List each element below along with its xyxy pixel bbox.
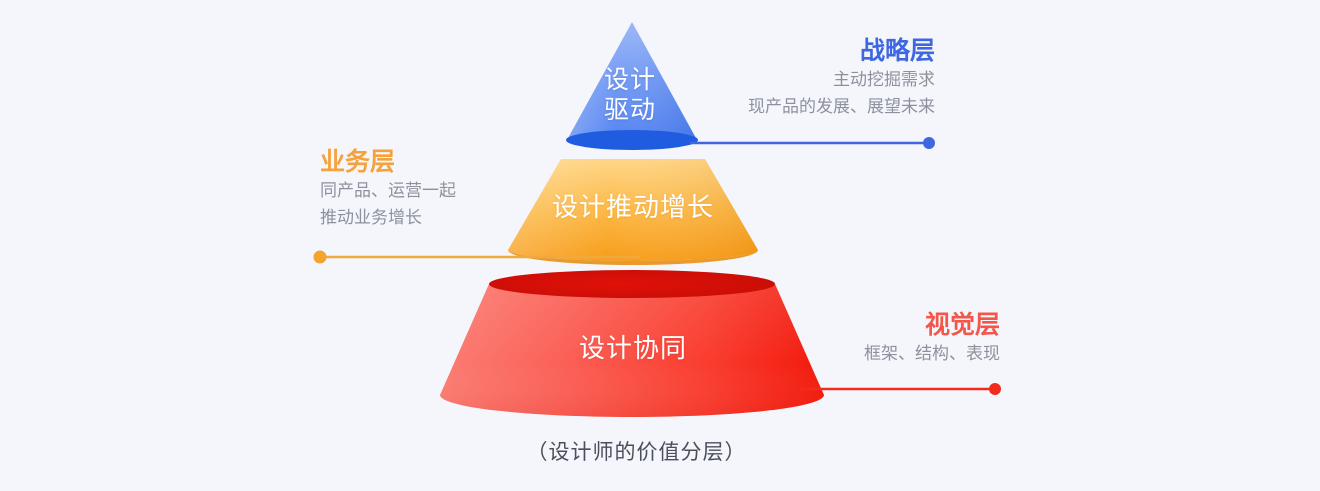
- annotation-visual: 视觉层 框架、结构、表现: [760, 310, 1000, 368]
- annotation-business-title: 业务层: [320, 147, 486, 178]
- annotation-business-line-2: 推动业务增长: [320, 205, 486, 231]
- strategy-cone-base-ellipse: [566, 130, 698, 150]
- annotation-business-line-1: 同产品、运营一起: [320, 178, 486, 204]
- visual-cone-top-ellipse: [489, 270, 775, 298]
- pyramid-graphic: [0, 0, 1320, 491]
- annotation-business: 业务层 同产品、运营一起 推动业务增长: [320, 147, 486, 231]
- business-cone-shade: [508, 159, 758, 261]
- annotation-strategy-line-2: 现产品的发展、展望未来: [673, 94, 935, 120]
- diagram-caption: （设计师的价值分层）: [0, 436, 1273, 466]
- connector-strategy: [690, 137, 935, 149]
- diagram-canvas: 设计 驱动 设计推动增长 设计协同 战略层 主动挖掘需求 现产品的发展、展望未来…: [0, 0, 1320, 491]
- connector-visual-dot: [989, 383, 1001, 395]
- annotation-visual-title: 视觉层: [760, 310, 1000, 341]
- connector-visual: [800, 383, 1001, 395]
- annotation-visual-line-1: 框架、结构、表现: [760, 341, 1000, 367]
- connector-business-dot: [314, 251, 327, 264]
- connector-strategy-dot: [923, 137, 935, 149]
- annotation-strategy-line-1: 主动挖掘需求: [673, 67, 935, 93]
- annotation-strategy: 战略层 主动挖掘需求 现产品的发展、展望未来: [673, 36, 935, 120]
- pyramid-level-business: [508, 159, 758, 265]
- annotation-strategy-title: 战略层: [673, 36, 935, 67]
